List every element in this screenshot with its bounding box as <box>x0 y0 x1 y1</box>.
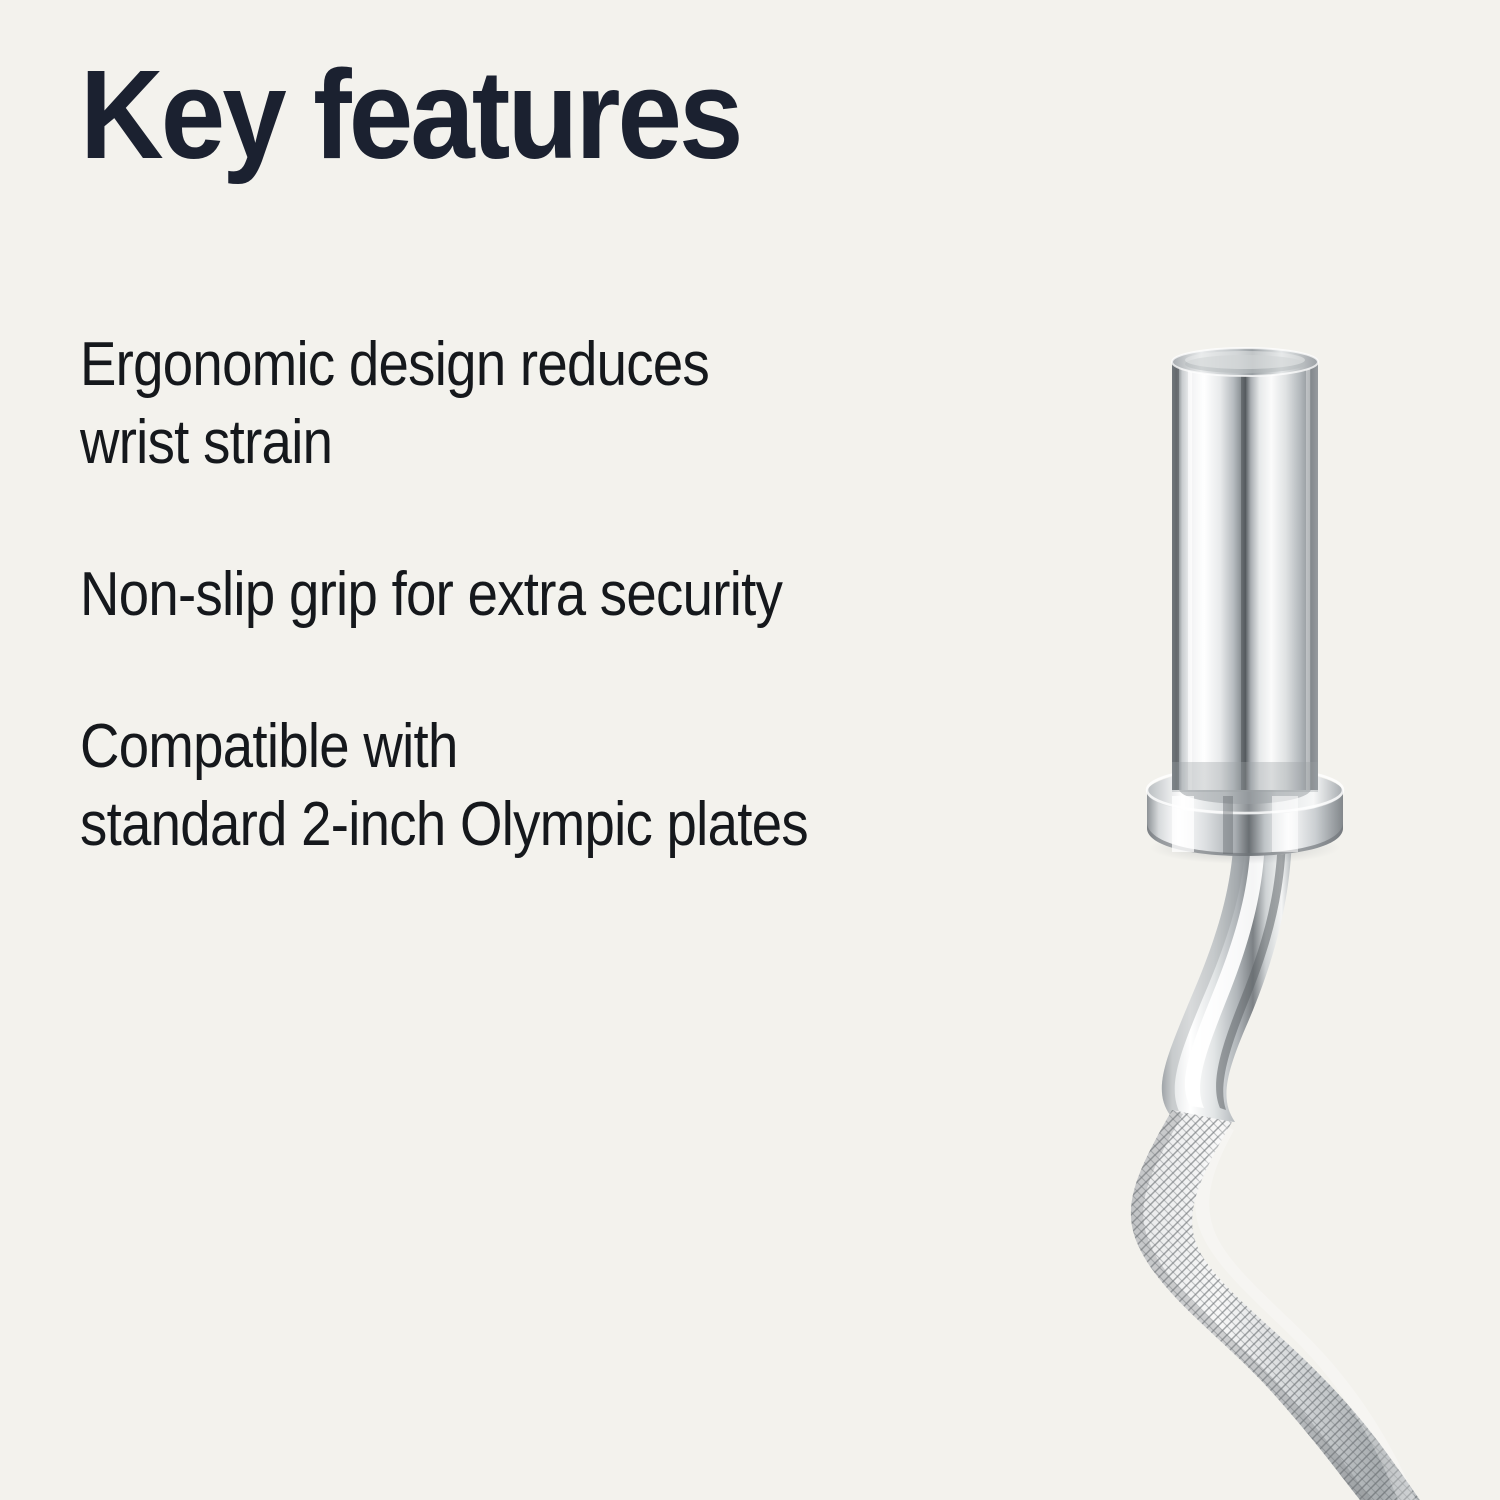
product-feature-card: Key features Ergonomic design reduces wr… <box>0 0 1500 1500</box>
page-title: Key features <box>80 52 741 178</box>
feature-item-olympic-compatible: Compatible with standard 2-inch Olympic … <box>80 708 872 864</box>
feature-list: Ergonomic design reduces wrist strain No… <box>80 326 980 864</box>
feature-item-ergonomic-design: Ergonomic design reduces wrist strain <box>80 326 872 482</box>
barbell-product-image <box>1020 300 1500 1500</box>
feature-item-non-slip-grip: Non-slip grip for extra security <box>80 556 872 634</box>
